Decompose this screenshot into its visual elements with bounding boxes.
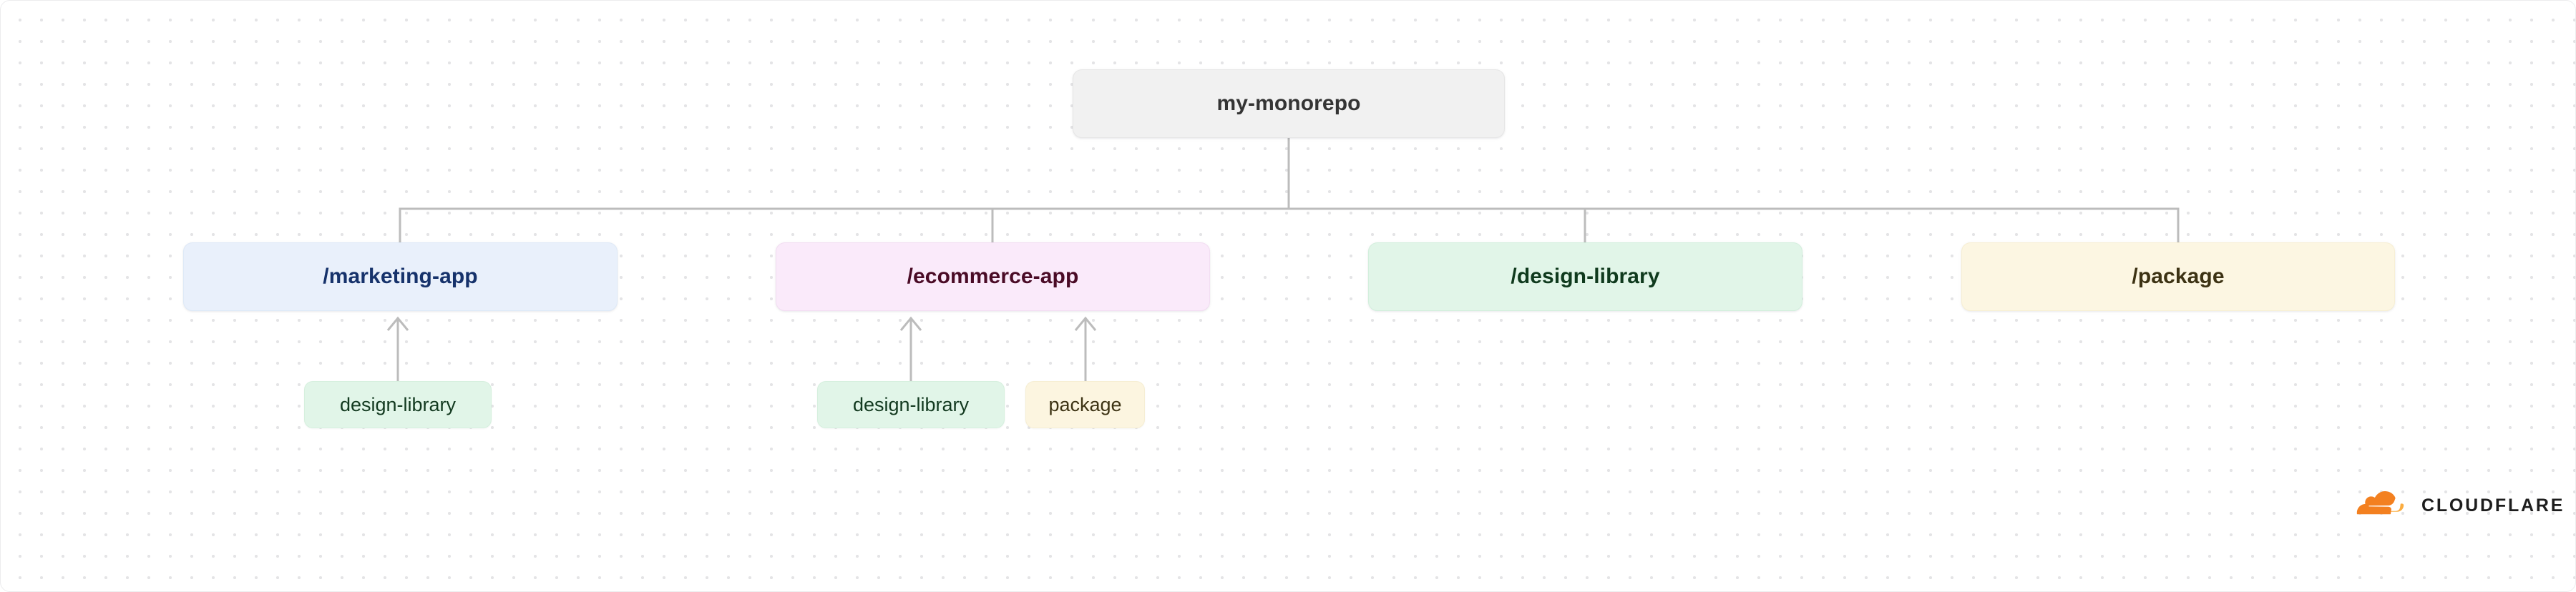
dependency-tag-label: design-library bbox=[853, 394, 969, 416]
dependency-tag-label: design-library bbox=[340, 394, 456, 416]
cloudflare-cloud-icon bbox=[2350, 491, 2411, 520]
arrowhead-marketing-design bbox=[388, 318, 408, 330]
node-label-design-library: /design-library bbox=[1511, 265, 1659, 289]
node-ecommerce-app[interactable]: /ecommerce-app bbox=[776, 242, 1210, 311]
diagram-canvas: my-monorepo /marketing-app /ecommerce-ap… bbox=[0, 0, 2576, 592]
dependency-tag-marketing-design-library[interactable]: design-library bbox=[304, 381, 492, 428]
arrowhead-ecommerce-package bbox=[1075, 318, 1096, 330]
node-label-package: /package bbox=[2132, 265, 2224, 289]
node-label-root: my-monorepo bbox=[1216, 92, 1360, 116]
node-package[interactable]: /package bbox=[1961, 242, 2395, 311]
node-marketing-app[interactable]: /marketing-app bbox=[183, 242, 618, 311]
dependency-tag-ecommerce-package[interactable]: package bbox=[1025, 381, 1145, 428]
node-my-monorepo[interactable]: my-monorepo bbox=[1073, 69, 1505, 138]
node-design-library[interactable]: /design-library bbox=[1368, 242, 1802, 311]
dependency-tag-label: package bbox=[1048, 394, 1121, 416]
dependency-tag-ecommerce-design-library[interactable]: design-library bbox=[817, 381, 1005, 428]
node-label-ecommerce-app: /ecommerce-app bbox=[907, 265, 1079, 289]
node-label-marketing-app: /marketing-app bbox=[323, 265, 477, 289]
cloudflare-wordmark: CLOUDFLARE bbox=[2421, 497, 2565, 515]
arrowhead-ecommerce-design bbox=[901, 318, 921, 330]
cloudflare-logo: CLOUDFLARE bbox=[2350, 491, 2565, 520]
